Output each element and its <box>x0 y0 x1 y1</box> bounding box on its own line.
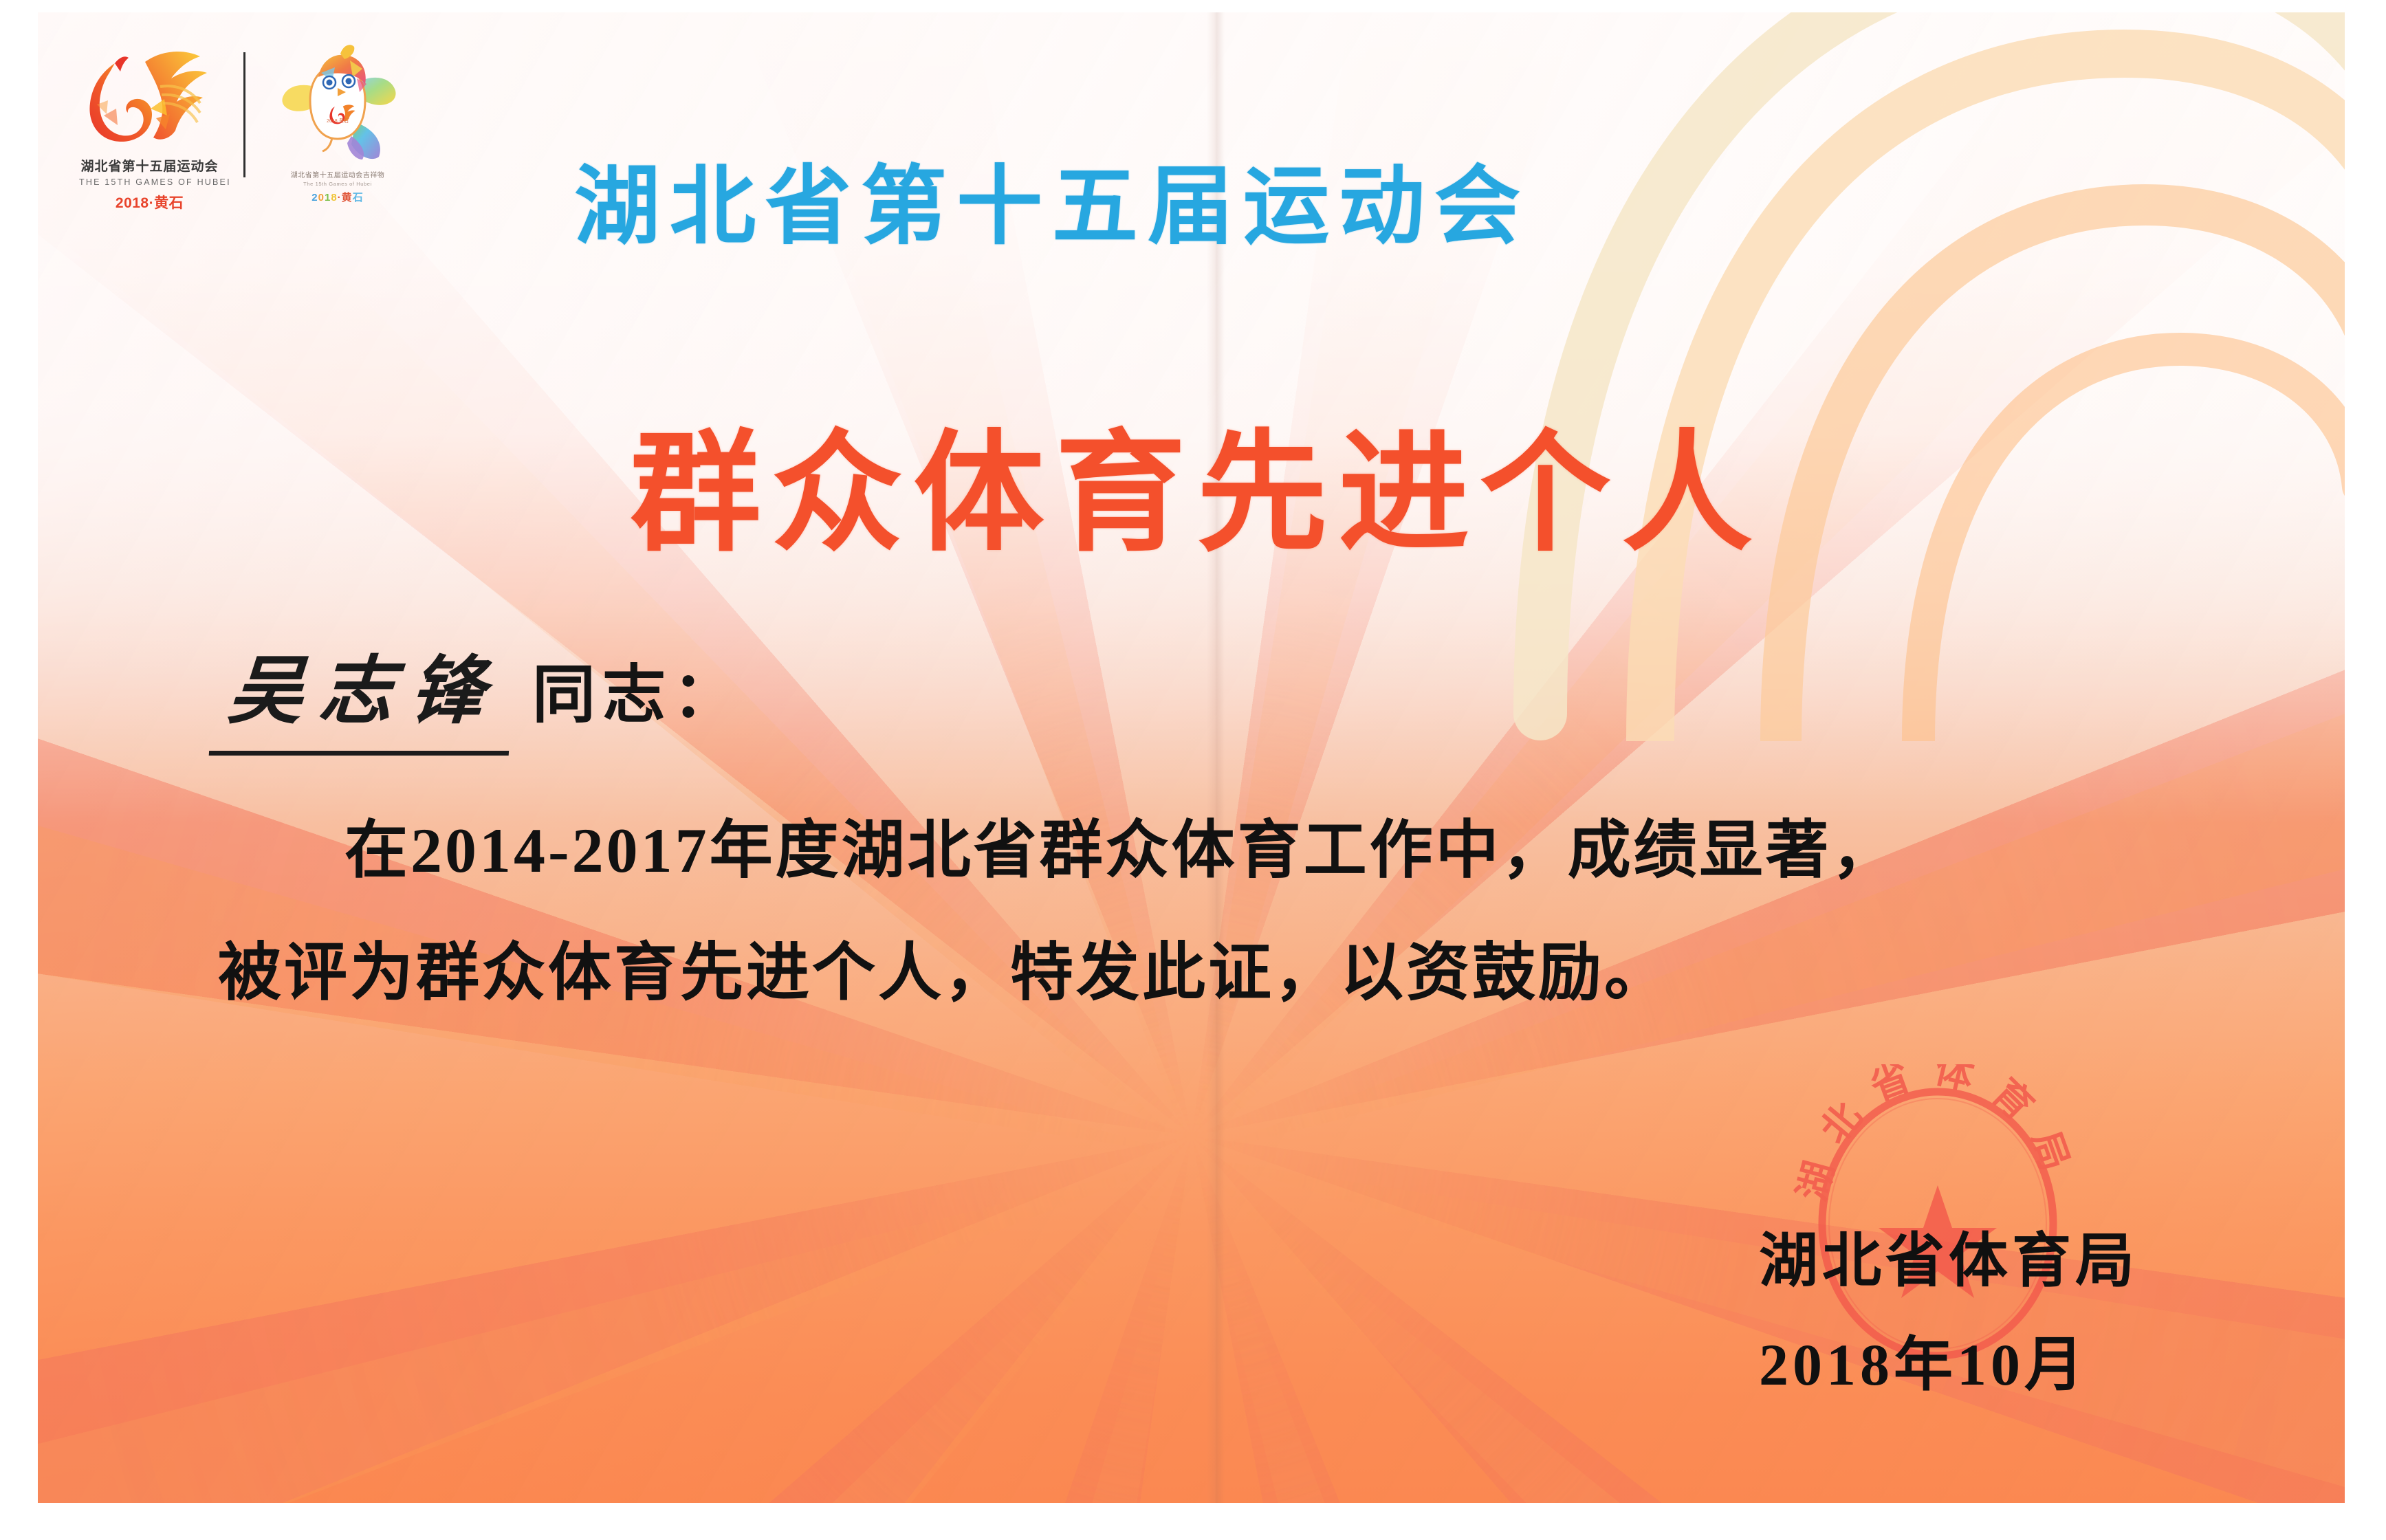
games-title: 湖北省第十五届运动会 <box>574 136 1530 261</box>
logo-chinese-text: 湖北省第十五届运动会 <box>79 156 220 175</box>
emblem-divider <box>243 52 245 177</box>
mascot-year-city: 2018·黄石 <box>269 190 406 204</box>
games-mascot: 2018·黄石 湖北省第十五届运动会吉祥物 The 15th Games of … <box>269 41 406 204</box>
signature-block: 湖北省体育局 2018年10月 <box>1759 1212 2138 1402</box>
flame-numeral-logo-icon <box>79 41 220 151</box>
certificate-body: 在2014-2017年度湖北省群众体育工作中，成绩显著， 被评为群众体育先进个人… <box>218 789 2198 1034</box>
decorative-swoosh-arcs <box>1396 12 2345 741</box>
signature-organization: 湖北省体育局 <box>1759 1212 2138 1298</box>
body-line-2: 被评为群众体育先进个人，特发此证，以资鼓励。 <box>218 912 2198 1034</box>
certificate-sheet: 湖北省第十五届运动会 THE 15TH GAMES OF HUBEI 2018·… <box>38 12 2345 1503</box>
emblem-row: 湖北省第十五届运动会 THE 15TH GAMES OF HUBEI 2018·… <box>79 41 406 212</box>
logo-year-city: 2018·黄石 <box>79 192 220 212</box>
svg-text:湖北省体育局: 湖北省体育局 <box>1791 1064 2082 1205</box>
mascot-bird-icon: 2018·黄石 <box>269 41 406 168</box>
mascot-english-text: The 15th Games of Hubei <box>269 181 406 187</box>
recipient-suffix: 同志： <box>532 643 743 735</box>
recipient-name: 吴志锋 <box>209 631 518 756</box>
signature-date: 2018年10月 <box>1759 1316 2138 1402</box>
body-line-1: 在2014-2017年度湖北省群众体育工作中，成绩显著， <box>218 789 2198 912</box>
mascot-chinese-text: 湖北省第十五届运动会吉祥物 <box>269 169 406 179</box>
award-title: 群众体育先进个人 <box>38 387 2345 576</box>
games-logo: 湖北省第十五届运动会 THE 15TH GAMES OF HUBEI 2018·… <box>79 41 220 212</box>
recipient-line: 吴志锋 同志： <box>213 631 743 756</box>
logo-english-text: THE 15TH GAMES OF HUBEI <box>79 177 220 187</box>
svg-text:2018·黄石: 2018·黄石 <box>327 118 349 124</box>
